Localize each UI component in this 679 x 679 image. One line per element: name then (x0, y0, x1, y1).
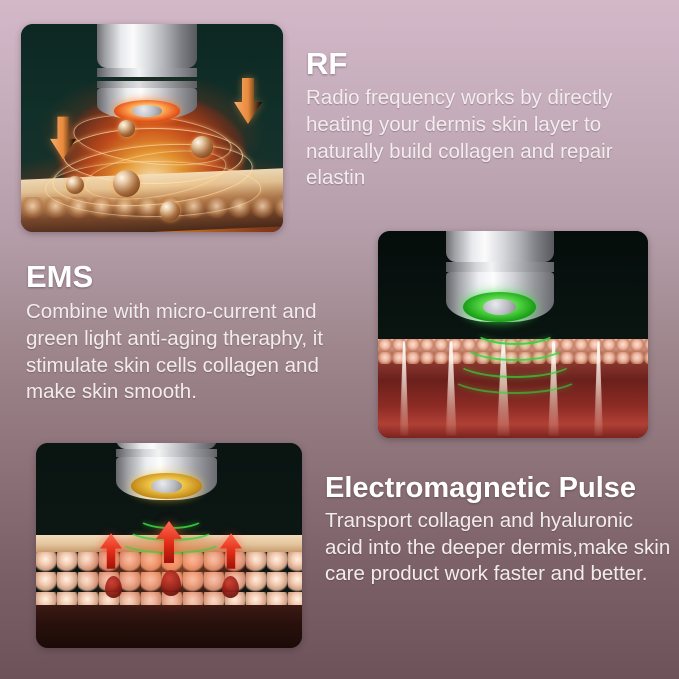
rf-collagen-bead-3 (66, 176, 84, 194)
rf-collagen-bead-4 (113, 170, 140, 197)
ems-heading: EMS (26, 261, 366, 293)
probe-ring-upper (446, 262, 554, 272)
ems-wave-4 (448, 355, 582, 394)
probe-ring-upper (97, 68, 197, 78)
rf-led-center (132, 105, 162, 116)
emp-arrow-right-icon (220, 533, 242, 569)
emp-led-center (151, 479, 182, 493)
rf-text-block: RF Radio frequency works by directly hea… (306, 48, 666, 192)
rf-device-probe (97, 24, 197, 120)
emp-scene (36, 443, 302, 648)
emp-heading: Electromagnetic Pulse (325, 473, 675, 503)
rf-collagen-bead-1 (118, 120, 135, 137)
rf-arrow-right-icon (234, 78, 262, 124)
emp-arrow-center-icon (156, 521, 182, 563)
emp-description: Transport collagen and hyaluronic acid i… (325, 508, 675, 588)
rf-led-ring (114, 100, 180, 122)
rf-collagen-bead-5 (160, 201, 180, 221)
rf-description: Radio frequency works by directly heatin… (306, 85, 666, 192)
rf-scene (21, 24, 283, 232)
ems-device-probe (446, 231, 554, 322)
probe-barrel (446, 231, 554, 262)
emp-drop-right (222, 576, 239, 598)
emp-drop-left (105, 576, 122, 598)
rf-heading: RF (306, 48, 666, 80)
ems-led-center (483, 299, 515, 315)
ems-text-block: EMS Combine with micro-current and green… (26, 261, 366, 406)
emp-device-probe (116, 443, 217, 500)
ems-scene (378, 231, 648, 438)
rf-illustration-panel (21, 24, 283, 232)
emp-arrow-left-icon (100, 533, 122, 569)
emp-deep-tissue-layer (36, 605, 302, 648)
infographic-page: RF Radio frequency works by directly hea… (0, 0, 679, 679)
emp-drop-center (161, 570, 181, 596)
ems-illustration-panel (378, 231, 648, 438)
probe-barrel (97, 24, 197, 68)
emp-text-block: Electromagnetic Pulse Transport collagen… (325, 473, 675, 588)
ems-description: Combine with micro-current and green lig… (26, 299, 366, 406)
rf-arrow-left-icon (50, 116, 76, 160)
probe-ring-upper (116, 449, 217, 458)
emp-illustration-panel (36, 443, 302, 648)
probe-ring-lower (97, 81, 197, 89)
emp-gold-led-ring (131, 473, 202, 499)
